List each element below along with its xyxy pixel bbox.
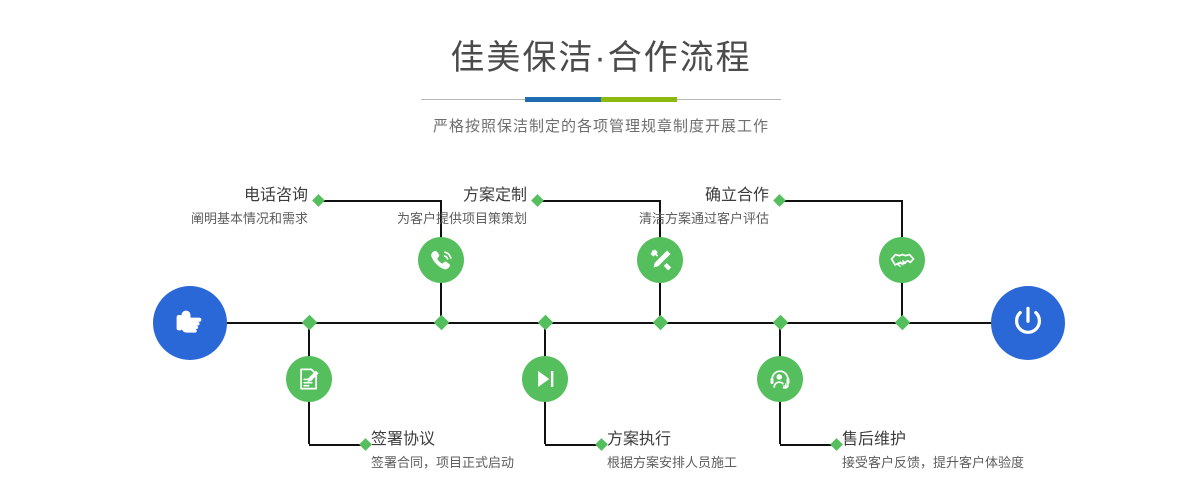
infographic-page: 佳美保洁·合作流程 严格按照保洁制定的各项管理规章制度开展工作 [0, 0, 1202, 502]
power-icon [1007, 300, 1049, 347]
step-icon-5 [879, 237, 925, 283]
step-icon-1 [418, 237, 464, 283]
phone-call-icon [428, 247, 455, 274]
play-forward-icon [532, 366, 558, 392]
node-lead-line-5 [779, 200, 902, 202]
step-title-5: 确立合作 [439, 186, 769, 206]
step-desc-6: 接受客户反馈，提升客户体验度 [842, 450, 1172, 473]
step-desc-5: 清洁方案通过客户评估 [439, 206, 769, 229]
node-lead-line-4 [545, 444, 601, 446]
handshake-icon [889, 247, 916, 274]
headset-support-add-icon [767, 366, 793, 392]
step-label-5: 确立合作 清洁方案通过客户评估 [439, 186, 769, 229]
timeline-axis [155, 322, 1047, 324]
pencil-ruler-icon [647, 247, 674, 274]
timeline-start-node [153, 286, 227, 360]
node-marker-6 [772, 314, 788, 330]
node-marker-5 [894, 314, 910, 330]
step-icon-4 [522, 356, 568, 402]
node-lead-dot-5 [773, 194, 786, 207]
node-marker-3 [652, 314, 668, 330]
node-lead-line-6 [780, 444, 836, 446]
step-icon-6 [757, 356, 803, 402]
step-title-6: 售后维护 [842, 430, 1172, 450]
hand-point-right-icon [170, 301, 210, 346]
step-icon-2 [286, 356, 332, 402]
node-lead-dot-2 [359, 438, 372, 451]
timeline-end-node [991, 286, 1065, 360]
node-marker-1 [433, 314, 449, 330]
node-marker-4 [537, 314, 553, 330]
step-icon-3 [637, 237, 683, 283]
step-label-6: 售后维护 接受客户反馈，提升客户体验度 [842, 430, 1172, 473]
node-lead-line-2 [309, 444, 365, 446]
document-edit-icon [296, 366, 322, 392]
node-marker-2 [301, 314, 317, 330]
process-timeline: 电话咨询 阐明基本情况和需求 [0, 0, 1202, 502]
